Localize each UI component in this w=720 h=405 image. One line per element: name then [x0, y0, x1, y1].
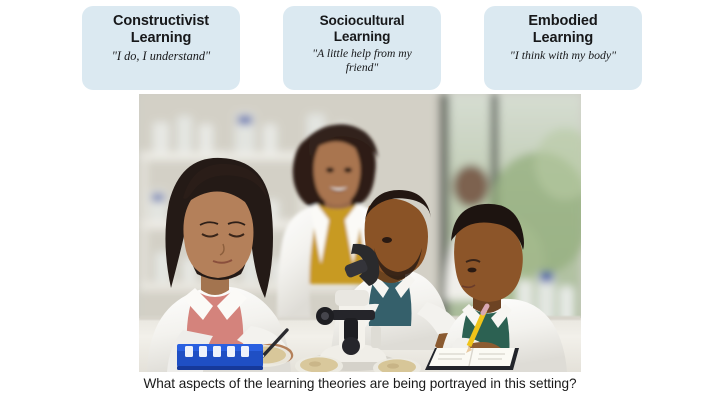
card-title-line2: Learning	[533, 30, 593, 46]
card-quote: "I think with my body"	[510, 49, 616, 63]
card-quote: "I do, I understand"	[112, 49, 210, 64]
test-tube-rack	[177, 344, 263, 370]
notebook	[425, 348, 519, 370]
classroom-photo	[139, 94, 581, 372]
slide-caption: What aspects of the learning theories ar…	[0, 376, 720, 391]
card-title: Sociocultural Learning	[320, 13, 405, 45]
card-title-line1: Embodied	[528, 13, 597, 29]
card-title-line1: Constructivist	[113, 13, 209, 29]
slide-canvas: Constructivist Learning "I do, I underst…	[0, 0, 720, 405]
card-quote: "A little help from my friend"	[300, 47, 424, 74]
theory-card-sociocultural[interactable]: Sociocultural Learning "A little help fr…	[283, 6, 441, 90]
theory-card-constructivist[interactable]: Constructivist Learning "I do, I underst…	[82, 6, 240, 90]
card-title: Constructivist Learning	[113, 13, 209, 47]
theory-card-row: Constructivist Learning "I do, I underst…	[82, 6, 642, 90]
photo-illustration	[139, 94, 581, 372]
card-title: Embodied Learning	[528, 13, 597, 47]
card-title-line2: Learning	[131, 30, 191, 46]
theory-card-embodied[interactable]: Embodied Learning "I think with my body"	[484, 6, 642, 90]
card-title-line1: Sociocultural	[320, 13, 405, 28]
card-title-line2: Learning	[334, 29, 391, 44]
